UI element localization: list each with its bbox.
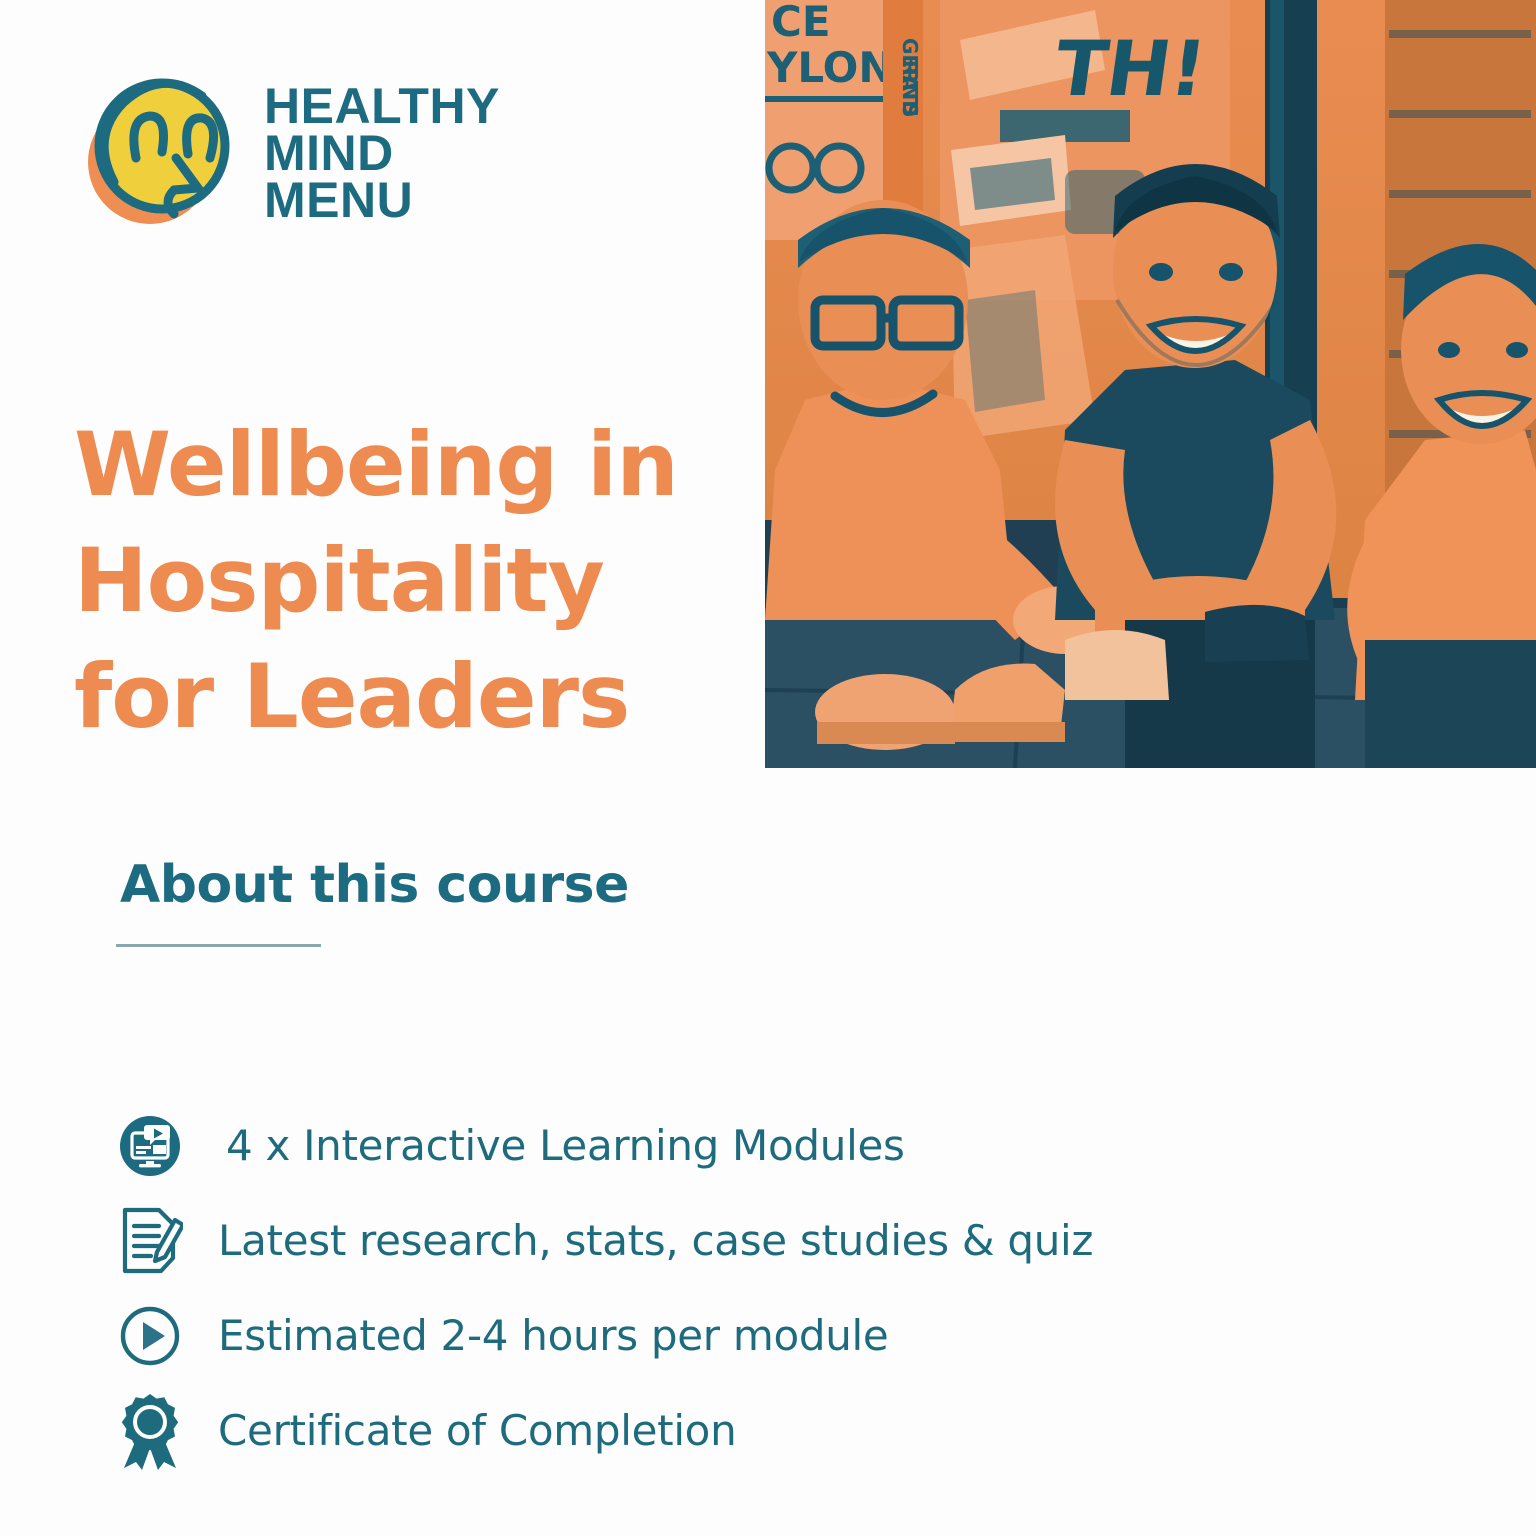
- brand-logo: HEALTHY MIND MENU: [70, 62, 500, 244]
- brand-line-1: HEALTHY: [264, 83, 500, 130]
- list-item-label: 4 x Interactive Learning Modules: [196, 1121, 905, 1170]
- play-circle-icon: [104, 1305, 196, 1367]
- svg-text:TH!: TH!: [1049, 25, 1212, 114]
- svg-text:GERND: GERND: [898, 38, 922, 117]
- list-item: Estimated 2-4 hours per module: [104, 1288, 1304, 1383]
- list-item: Latest research, stats, case studies & q…: [104, 1193, 1304, 1288]
- course-title: Wellbeing in Hospitality for Leaders: [74, 407, 734, 755]
- document-pencil-icon: [104, 1206, 196, 1276]
- section-divider: [116, 944, 321, 947]
- course-feature-list: 4 x Interactive Learning Modules Latest …: [104, 1098, 1304, 1478]
- list-item-label: Latest research, stats, case studies & q…: [196, 1216, 1093, 1265]
- brand-line-3: MENU: [264, 177, 500, 224]
- list-item-label: Certificate of Completion: [196, 1406, 736, 1455]
- smiley-face-logo-icon: [70, 62, 242, 244]
- list-item-label: Estimated 2-4 hours per module: [196, 1311, 888, 1360]
- list-item: Certificate of Completion: [104, 1383, 1304, 1478]
- hero-photo-duotone-illustration: CE YLON RATS GERND TH!: [765, 0, 1536, 768]
- brand-line-2: MIND: [264, 130, 500, 177]
- video-monitor-icon: [104, 1115, 196, 1177]
- brand-wordmark: HEALTHY MIND MENU: [264, 83, 500, 224]
- award-ribbon-icon: [104, 1392, 196, 1470]
- hero-photo: CE YLON RATS GERND TH!: [765, 0, 1536, 768]
- svg-text:YLON: YLON: [766, 43, 894, 92]
- svg-text:CE: CE: [771, 0, 831, 46]
- list-item: 4 x Interactive Learning Modules: [104, 1098, 1304, 1193]
- about-section-heading: About this course: [120, 855, 629, 915]
